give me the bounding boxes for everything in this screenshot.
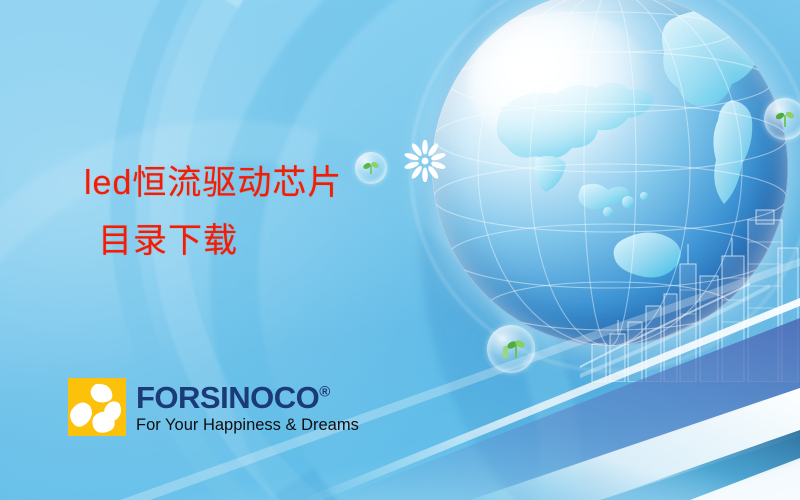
bubble-sprout-center bbox=[487, 325, 535, 373]
four-petal-flower-icon bbox=[68, 378, 126, 436]
flower-asterisk-icon bbox=[404, 140, 446, 182]
headline-cjk: 恒流驱动芯片 bbox=[132, 163, 342, 203]
globe-graticule bbox=[432, 0, 788, 346]
registered-trademark-icon: ® bbox=[319, 384, 330, 401]
logo-wordmark: FORSINOCO® bbox=[136, 382, 359, 413]
headline-line-1: led恒流驱动芯片 bbox=[84, 162, 342, 206]
globe-icon bbox=[432, 0, 788, 346]
logo-text: FORSINOCO® For Your Happiness & Dreams bbox=[136, 378, 359, 434]
globe-halo bbox=[410, 0, 800, 372]
city-skyline-icon bbox=[580, 202, 800, 382]
headline: led恒流驱动芯片 目录下载 bbox=[84, 162, 342, 263]
globe-highlight bbox=[468, 11, 653, 153]
headline-latin: led bbox=[84, 164, 132, 202]
ribbon-arc-vertical bbox=[298, 0, 800, 500]
globe-rim bbox=[432, 0, 788, 346]
promo-banner: led恒流驱动芯片 目录下载 FORSINOCO® For Your Happi… bbox=[0, 0, 800, 500]
headline-line-2: 目录下载 bbox=[84, 220, 342, 264]
brand-logo[interactable]: FORSINOCO® For Your Happiness & Dreams bbox=[68, 378, 359, 436]
background-sweep-right bbox=[420, 0, 800, 500]
diagonal-ribbons bbox=[0, 240, 800, 500]
globe-sphere bbox=[432, 0, 788, 346]
bubble-sprout-left bbox=[355, 152, 387, 184]
logo-wordmark-text: FORSINOCO bbox=[136, 380, 319, 415]
bubble-sprout-right bbox=[764, 98, 800, 140]
logo-tagline: For Your Happiness & Dreams bbox=[136, 416, 359, 434]
